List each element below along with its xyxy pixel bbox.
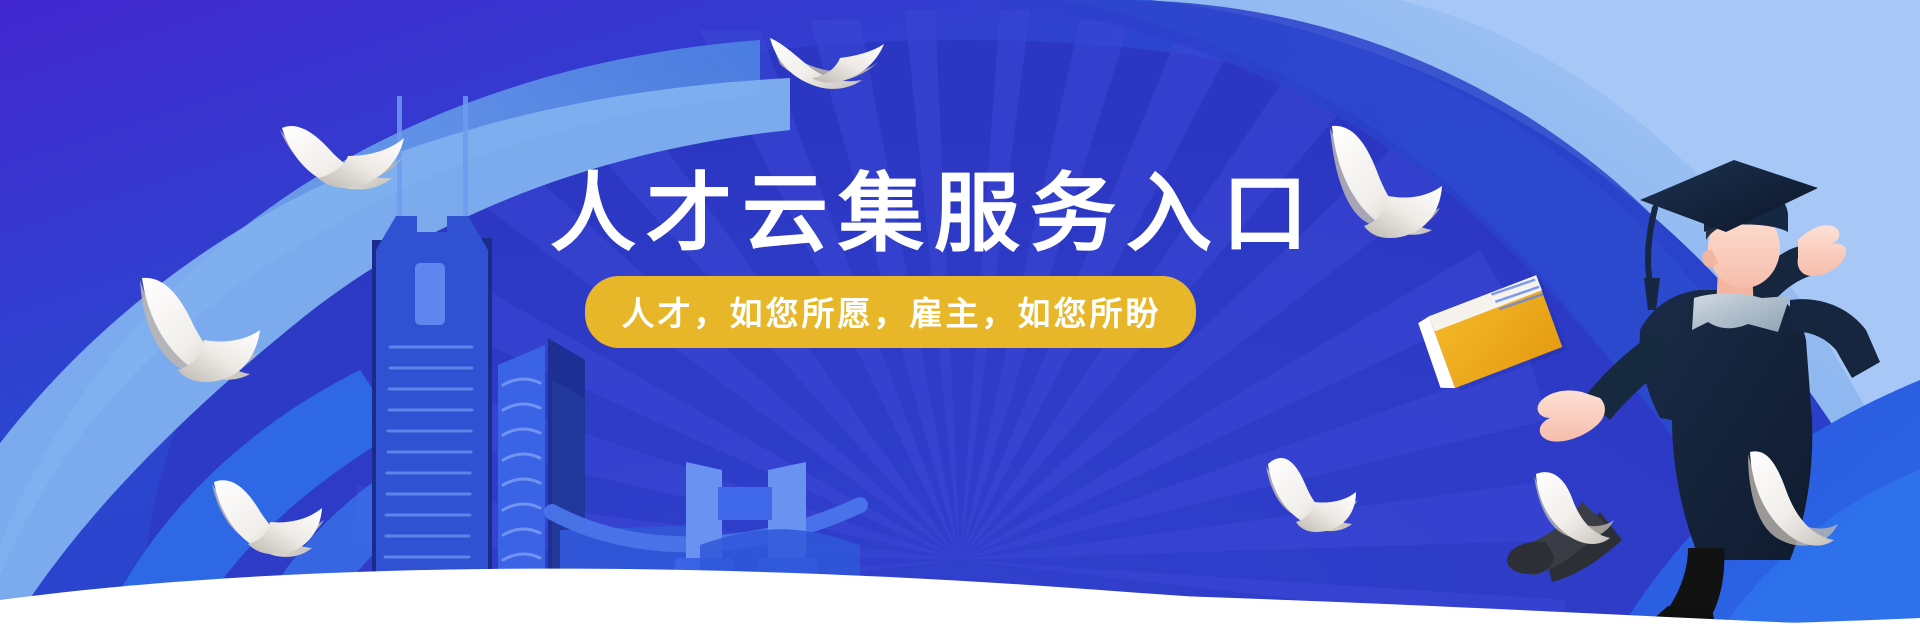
bridge-deck bbox=[718, 487, 772, 520]
tower-main-window-panel bbox=[415, 263, 445, 325]
hero-banner: 人才云集服务入口 人才，如您所愿，雇主，如您所盼 bbox=[0, 0, 1920, 630]
banner-illustration bbox=[0, 0, 1920, 630]
